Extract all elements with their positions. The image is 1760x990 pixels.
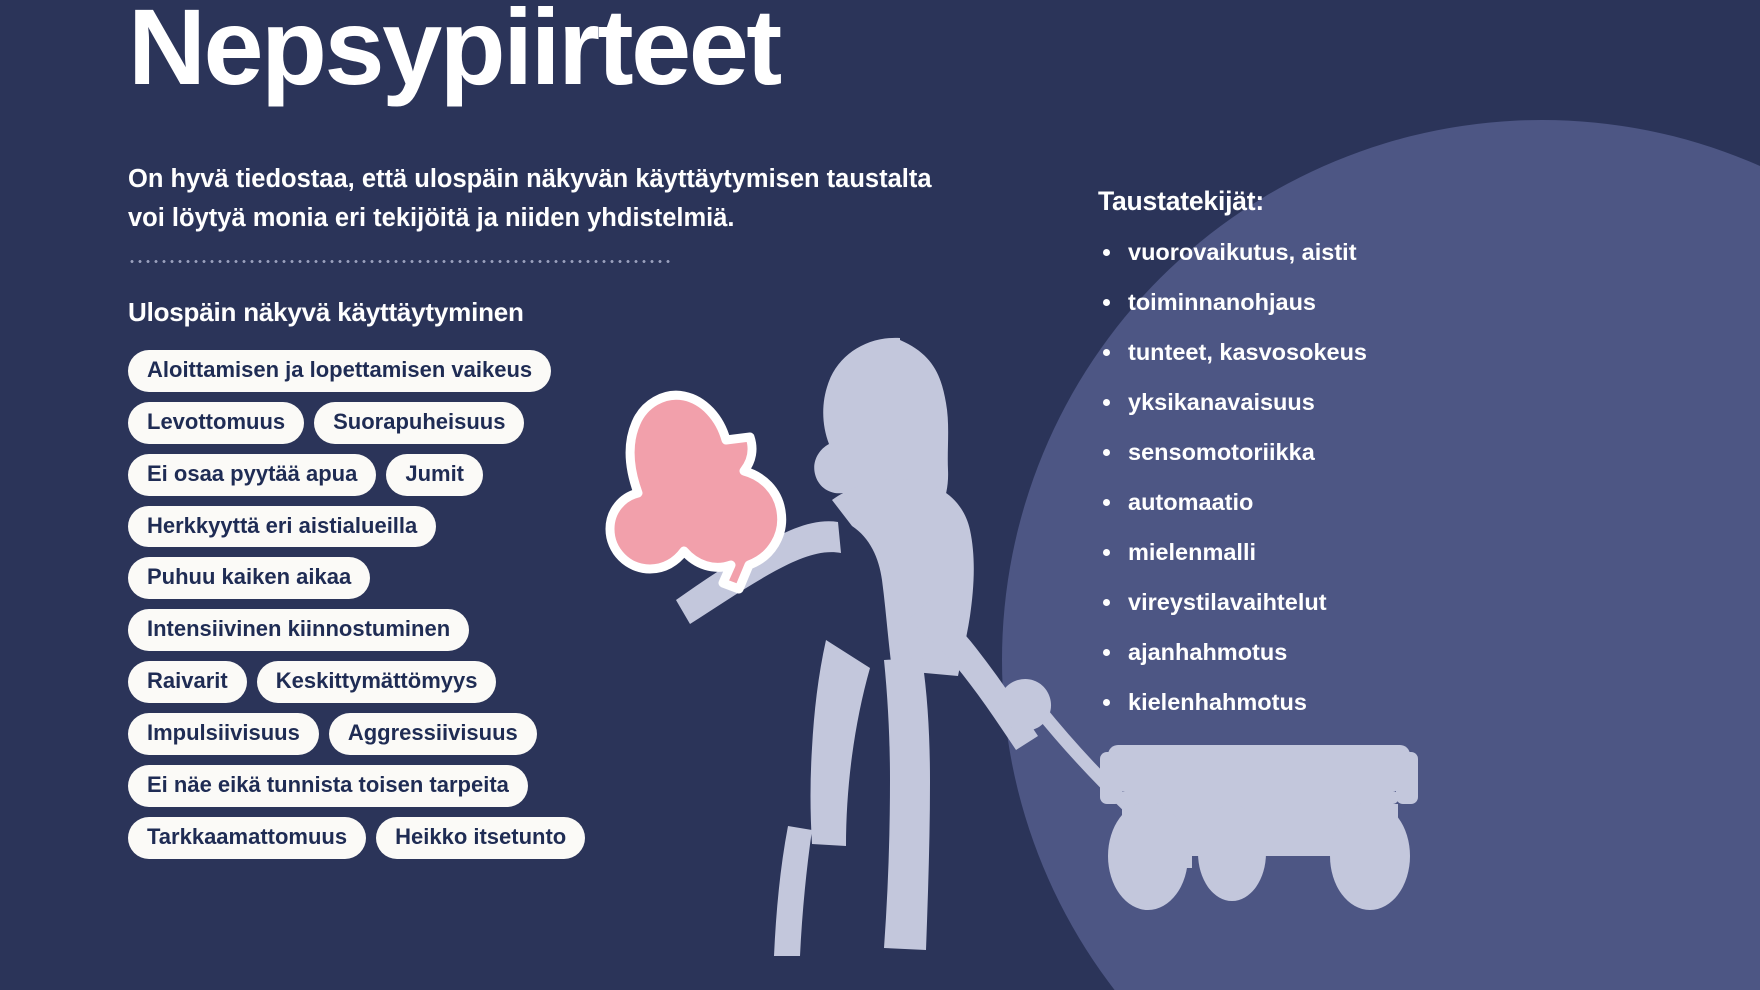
- pill-row: Levottomuus Suorapuheisuus: [128, 402, 828, 444]
- factor-list-item: ajanhahmotus: [1098, 641, 1578, 665]
- bullet-icon: [1103, 449, 1110, 456]
- pill-row: Herkkyyttä eri aistialueilla: [128, 506, 828, 548]
- factors-section-heading: Taustatekijät:: [1098, 186, 1578, 217]
- pill-row: Raivarit Keskittymättömyys: [128, 661, 828, 703]
- intro-paragraph: On hyvä tiedostaa, että ulospäin näkyvän…: [128, 160, 948, 238]
- pill-row: Ei näe eikä tunnista toisen tarpeita: [128, 765, 828, 807]
- behaviour-pill[interactable]: Ei näe eikä tunnista toisen tarpeita: [128, 765, 528, 807]
- factor-label: tunteet, kasvosokeus: [1128, 339, 1367, 365]
- bullet-icon: [1103, 299, 1110, 306]
- bullet-icon: [1103, 599, 1110, 606]
- behaviour-pill[interactable]: Aloittamisen ja lopettamisen vaikeus: [128, 350, 551, 392]
- behaviour-pill[interactable]: Jumit: [386, 454, 483, 496]
- factor-label: automaatio: [1128, 489, 1253, 515]
- factor-label: ajanhahmotus: [1128, 639, 1287, 665]
- behaviour-pill[interactable]: Raivarit: [128, 661, 247, 703]
- behaviour-pill[interactable]: Keskittymättömyys: [257, 661, 497, 703]
- bullet-icon: [1103, 399, 1110, 406]
- factors-list: vuorovaikutus, aistit toiminnanohjaus tu…: [1098, 241, 1578, 715]
- behaviour-pill[interactable]: Heikko itsetunto: [376, 817, 585, 859]
- behaviour-section-heading: Ulospäin näkyvä käyttäytyminen: [128, 297, 828, 328]
- dotted-divider: [128, 260, 673, 263]
- factor-label: mielenmalli: [1128, 539, 1256, 565]
- behaviour-pill[interactable]: Herkkyyttä eri aistialueilla: [128, 506, 436, 548]
- pill-row: Puhuu kaiken aikaa: [128, 557, 828, 599]
- behaviour-pill-list: Aloittamisen ja lopettamisen vaikeus Lev…: [128, 350, 828, 860]
- right-column: Taustatekijät: vuorovaikutus, aistit toi…: [1098, 186, 1578, 741]
- factor-list-item: vireystilavaihtelut: [1098, 591, 1578, 615]
- bullet-icon: [1103, 499, 1110, 506]
- bullet-icon: [1103, 349, 1110, 356]
- pill-row: Aloittamisen ja lopettamisen vaikeus: [128, 350, 828, 392]
- factor-list-item: toiminnanohjaus: [1098, 291, 1578, 315]
- infographic-canvas: Nepsypiirteet On hyvä tiedostaa, että ul…: [0, 0, 1760, 990]
- factor-label: yksikanavaisuus: [1128, 389, 1315, 415]
- behaviour-pill[interactable]: Intensiivinen kiinnostuminen: [128, 609, 469, 651]
- factor-label: sensomotoriikka: [1128, 439, 1315, 465]
- pill-row: Impulsiivisuus Aggressiivisuus: [128, 713, 828, 755]
- left-column: Nepsypiirteet On hyvä tiedostaa, että ul…: [128, 0, 828, 859]
- bullet-icon: [1103, 549, 1110, 556]
- behaviour-pill[interactable]: Tarkkaamattomuus: [128, 817, 366, 859]
- behaviour-pill[interactable]: Aggressiivisuus: [329, 713, 537, 755]
- factor-label: vireystilavaihtelut: [1128, 589, 1327, 615]
- factor-list-item: yksikanavaisuus: [1098, 391, 1578, 415]
- factor-list-item: vuorovaikutus, aistit: [1098, 241, 1578, 265]
- page-title: Nepsypiirteet: [128, 0, 828, 102]
- factor-list-item: sensomotoriikka: [1098, 441, 1578, 465]
- behaviour-pill[interactable]: Ei osaa pyytää apua: [128, 454, 376, 496]
- bullet-icon: [1103, 649, 1110, 656]
- pill-row: Ei osaa pyytää apua Jumit: [128, 454, 828, 496]
- factor-list-item: tunteet, kasvosokeus: [1098, 341, 1578, 365]
- pill-row: Tarkkaamattomuus Heikko itsetunto: [128, 817, 828, 859]
- factor-label: toiminnanohjaus: [1128, 289, 1316, 315]
- behaviour-pill[interactable]: Impulsiivisuus: [128, 713, 319, 755]
- behaviour-pill[interactable]: Levottomuus: [128, 402, 304, 444]
- behaviour-pill[interactable]: Puhuu kaiken aikaa: [128, 557, 370, 599]
- bullet-icon: [1103, 699, 1110, 706]
- behaviour-pill[interactable]: Suorapuheisuus: [314, 402, 524, 444]
- factor-list-item: mielenmalli: [1098, 541, 1578, 565]
- factor-label: kielenhahmotus: [1128, 689, 1307, 715]
- factor-list-item: automaatio: [1098, 491, 1578, 515]
- pill-row: Intensiivinen kiinnostuminen: [128, 609, 828, 651]
- bullet-icon: [1103, 249, 1110, 256]
- factor-list-item: kielenhahmotus: [1098, 691, 1578, 715]
- factor-label: vuorovaikutus, aistit: [1128, 239, 1357, 265]
